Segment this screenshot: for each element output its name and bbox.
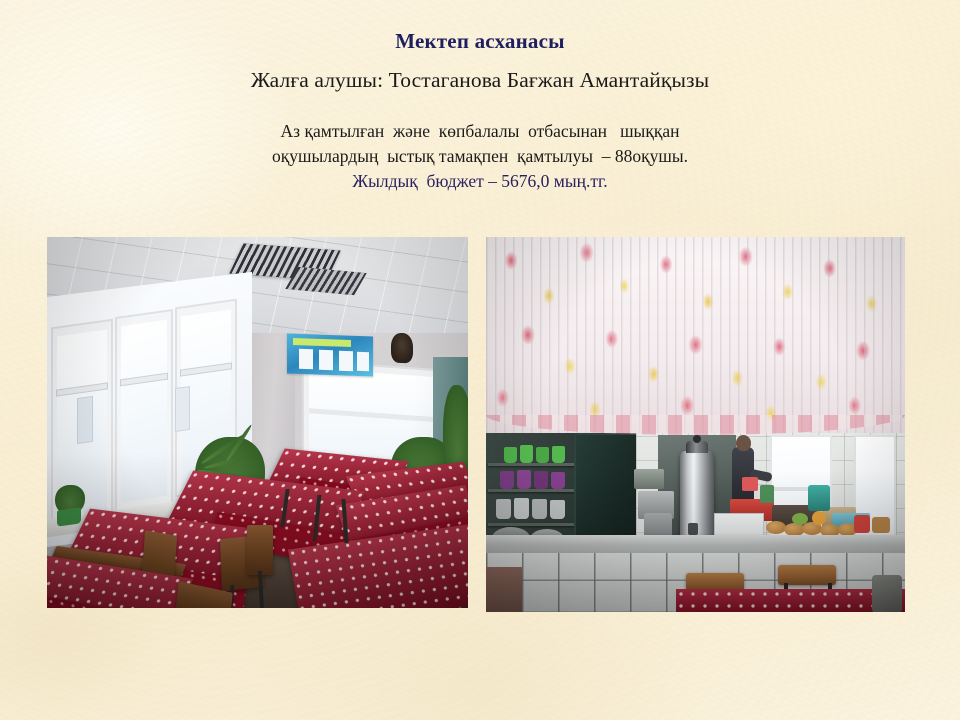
red-bottle xyxy=(742,477,758,491)
shelf xyxy=(488,463,580,466)
cup-green xyxy=(552,446,565,463)
dining-table-polka-dot xyxy=(676,589,905,612)
far-building-window-1 xyxy=(77,396,93,444)
cup-purple xyxy=(534,471,548,489)
boxed-goods xyxy=(872,517,890,533)
wall-ornament xyxy=(391,333,413,364)
poster-panel-4 xyxy=(357,352,369,371)
stacked-bowl xyxy=(514,498,529,519)
body-line-1: Аз қамтылған және көпбалалы отбасынан шы… xyxy=(0,119,960,144)
cup-green xyxy=(504,447,517,463)
fruit xyxy=(812,511,826,525)
budget-line: Жылдық бюджет – 5676,0 мың.тг. xyxy=(0,169,960,194)
stacked-bowl xyxy=(532,499,547,519)
stacked-bowl xyxy=(550,500,565,519)
poster-panel-3 xyxy=(339,351,353,371)
kitchen-appliance xyxy=(634,469,664,489)
red-package xyxy=(854,515,870,533)
poster-panel-1 xyxy=(299,349,313,369)
chair-back xyxy=(778,565,836,585)
green-bottle xyxy=(760,485,774,503)
kitchen-staff-head xyxy=(736,435,751,451)
cup-purple xyxy=(551,472,565,489)
body-paragraph: Аз қамтылған және көпбалалы отбасынан шы… xyxy=(0,93,960,194)
cup-purple xyxy=(500,471,514,489)
vegetable xyxy=(792,513,808,525)
cup-purple xyxy=(517,470,531,489)
water-urn-tap xyxy=(688,523,698,535)
body-line-2: оқушылардың ыстық тамақпен қамтылуы – 88… xyxy=(0,144,960,169)
photo-canteen-dining-hall xyxy=(47,237,468,608)
plant-pot xyxy=(57,507,81,526)
side-curtain xyxy=(486,567,522,612)
photo-canteen-serving-counter xyxy=(486,237,905,612)
far-building-window-2 xyxy=(175,386,190,432)
bread-roll xyxy=(766,521,786,534)
lessee-line: Жалға алушы: Тостаганова Бағжан Амантайқ… xyxy=(0,54,960,93)
water-urn-knob xyxy=(693,435,701,443)
shelf xyxy=(488,523,580,526)
stacked-bowl xyxy=(496,499,511,519)
cup-green xyxy=(536,447,549,463)
poster-panel-2 xyxy=(319,350,333,370)
kitchen-scale xyxy=(808,485,830,511)
chair-back-center-2 xyxy=(247,525,273,575)
slide-canvas: Мектеп асханасы Жалға алушы: Тостаганова… xyxy=(0,0,960,720)
floral-valance-curtain xyxy=(486,237,905,433)
text-block: Мектеп асханасы Жалға алушы: Тостаганова… xyxy=(0,0,960,194)
shelf xyxy=(488,489,580,492)
cup-green xyxy=(520,445,533,463)
page-title: Мектеп асханасы xyxy=(0,0,960,54)
window-glass-2 xyxy=(121,320,167,502)
foreground-object xyxy=(872,575,902,612)
